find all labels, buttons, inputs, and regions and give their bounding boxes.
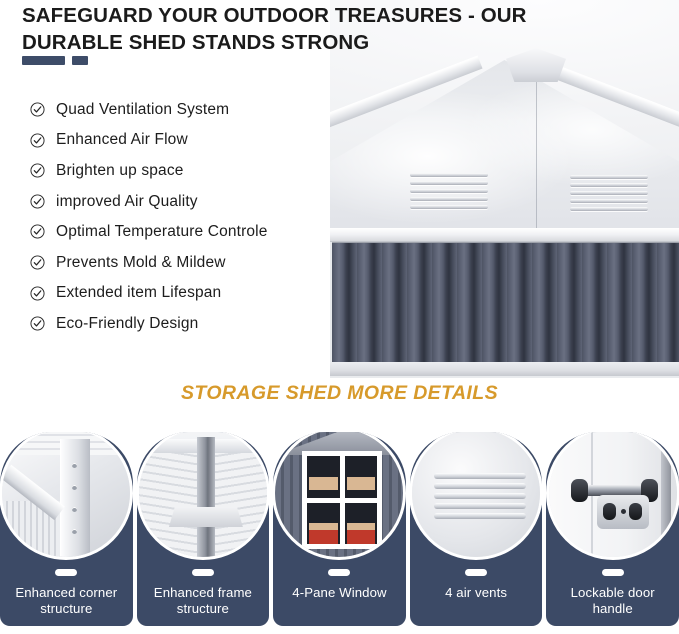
accent-bars (22, 56, 88, 65)
card-label: 4-Pane Window (286, 585, 392, 601)
accent-bar-short (72, 56, 88, 65)
shed-gable-photo (330, 0, 679, 378)
feature-label: improved Air Quality (56, 194, 198, 210)
detail-card-window[interactable]: 4-Pane Window (273, 432, 406, 626)
feature-label: Quad Ventilation System (56, 102, 229, 118)
check-circle-icon (30, 133, 45, 148)
siding-base-trim (330, 362, 679, 376)
feature-item: Quad Ventilation System (30, 95, 330, 124)
feature-label: Enhanced Air Flow (56, 132, 188, 148)
frame-structure-photo (137, 432, 270, 560)
wall-vent-right-icon (570, 172, 648, 214)
detail-card-list: Enhanced corner structure Enhanced frame… (0, 432, 679, 626)
eave-band (330, 228, 679, 242)
card-label: Lockable door handle (546, 585, 679, 617)
card-divider-dash (602, 569, 624, 576)
check-circle-icon (30, 163, 45, 178)
feature-item: Eco-Friendly Design (30, 309, 330, 338)
card-label: 4 air vents (439, 585, 513, 601)
four-pane-window-photo (273, 432, 406, 560)
card-divider-dash (192, 569, 214, 576)
feature-label: Brighten up space (56, 163, 184, 179)
check-circle-icon (30, 102, 45, 117)
corrugated-siding (332, 242, 679, 362)
detail-card-frame-structure[interactable]: Enhanced frame structure (137, 432, 270, 626)
check-circle-icon (30, 224, 45, 239)
section-heading: STORAGE SHED MORE DETAILS (0, 382, 679, 405)
check-circle-icon (30, 316, 45, 331)
accent-bar-long (22, 56, 65, 65)
page-title: SAFEGUARD YOUR OUTDOOR TREASURES - OUR D… (22, 2, 582, 56)
feature-label: Extended item Lifespan (56, 285, 221, 301)
feature-item: Enhanced Air Flow (30, 126, 330, 155)
door-handle-photo (546, 432, 679, 560)
wall-vent-left-icon (410, 170, 488, 212)
detail-card-door-handle[interactable]: Lockable door handle (546, 432, 679, 626)
feature-list: Quad Ventilation System Enhanced Air Flo… (30, 95, 330, 340)
feature-item: Optimal Temperature Controle (30, 217, 330, 246)
card-divider-dash (328, 569, 350, 576)
detail-card-corner-structure[interactable]: Enhanced corner structure (0, 432, 133, 626)
feature-item: Prevents Mold & Mildew (30, 248, 330, 277)
corner-structure-photo (0, 432, 133, 560)
air-vent-photo (410, 432, 543, 560)
check-circle-icon (30, 286, 45, 301)
feature-label: Eco-Friendly Design (56, 316, 198, 332)
card-divider-dash (55, 569, 77, 576)
feature-item: improved Air Quality (30, 187, 330, 216)
check-circle-icon (30, 255, 45, 270)
product-infographic: SAFEGUARD YOUR OUTDOOR TREASURES - OUR D… (0, 0, 679, 634)
card-label: Enhanced frame structure (137, 585, 270, 617)
card-label: Enhanced corner structure (0, 585, 133, 617)
feature-item: Brighten up space (30, 156, 330, 185)
check-circle-icon (30, 194, 45, 209)
detail-card-air-vents[interactable]: 4 air vents (410, 432, 543, 626)
feature-label: Prevents Mold & Mildew (56, 255, 226, 271)
feature-item: Extended item Lifespan (30, 279, 330, 308)
card-divider-dash (465, 569, 487, 576)
gable-seam (536, 78, 537, 236)
feature-label: Optimal Temperature Controle (56, 224, 268, 240)
